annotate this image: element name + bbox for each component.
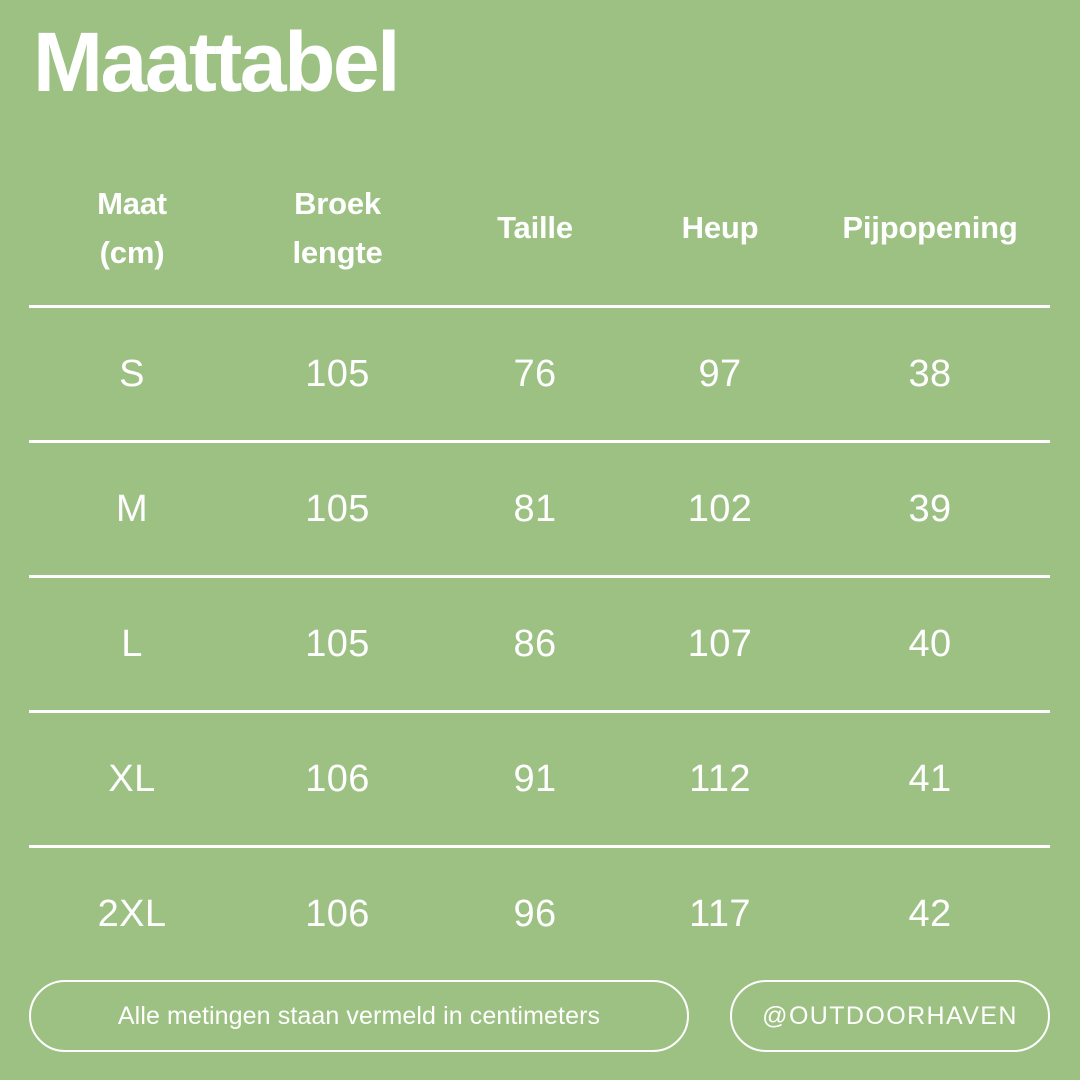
cell-broeklengte: 105: [235, 486, 440, 532]
table-row: XL 106 91 112 41: [29, 713, 1050, 845]
measurement-note-pill: Alle metingen staan vermeld in centimete…: [29, 980, 689, 1052]
table-row: M 105 81 102 39: [29, 443, 1050, 575]
column-header-broeklengte: Broek lengte: [235, 179, 440, 277]
table-header-row: Maat (cm) Broek lengte Taille Heup Pijpo…: [29, 150, 1050, 305]
cell-pijpopening: 38: [810, 351, 1050, 397]
cell-broeklengte: 106: [235, 756, 440, 802]
column-header-pijpopening: Pijpopening: [810, 203, 1050, 252]
column-header-maat: Maat (cm): [29, 179, 235, 277]
cell-size: 2XL: [29, 891, 235, 937]
cell-size: L: [29, 621, 235, 667]
cell-heup: 117: [630, 891, 810, 937]
cell-pijpopening: 42: [810, 891, 1050, 937]
size-chart-table: Maat (cm) Broek lengte Taille Heup Pijpo…: [29, 150, 1050, 980]
cell-taille: 81: [440, 486, 630, 532]
cell-pijpopening: 41: [810, 756, 1050, 802]
column-header-taille: Taille: [440, 203, 630, 252]
cell-taille: 96: [440, 891, 630, 937]
cell-size: S: [29, 351, 235, 397]
column-header-broeklengte-line1: Broek: [235, 179, 440, 228]
cell-pijpopening: 40: [810, 621, 1050, 667]
cell-size: XL: [29, 756, 235, 802]
column-header-broeklengte-line2: lengte: [235, 228, 440, 277]
column-header-heup: Heup: [630, 203, 810, 252]
table-row: S 105 76 97 38: [29, 308, 1050, 440]
column-header-maat-line2: (cm): [29, 228, 235, 277]
cell-taille: 76: [440, 351, 630, 397]
cell-broeklengte: 105: [235, 621, 440, 667]
cell-taille: 91: [440, 756, 630, 802]
table-row: L 105 86 107 40: [29, 578, 1050, 710]
table-row: 2XL 106 96 117 42: [29, 848, 1050, 980]
page-title: Maattabel: [33, 14, 398, 110]
social-handle-pill: @OUTDOORHAVEN: [730, 980, 1050, 1052]
cell-pijpopening: 39: [810, 486, 1050, 532]
cell-heup: 97: [630, 351, 810, 397]
cell-heup: 107: [630, 621, 810, 667]
cell-broeklengte: 105: [235, 351, 440, 397]
cell-heup: 112: [630, 756, 810, 802]
cell-size: M: [29, 486, 235, 532]
cell-taille: 86: [440, 621, 630, 667]
footer: Alle metingen staan vermeld in centimete…: [29, 980, 1050, 1052]
column-header-maat-line1: Maat: [29, 179, 235, 228]
cell-broeklengte: 106: [235, 891, 440, 937]
cell-heup: 102: [630, 486, 810, 532]
